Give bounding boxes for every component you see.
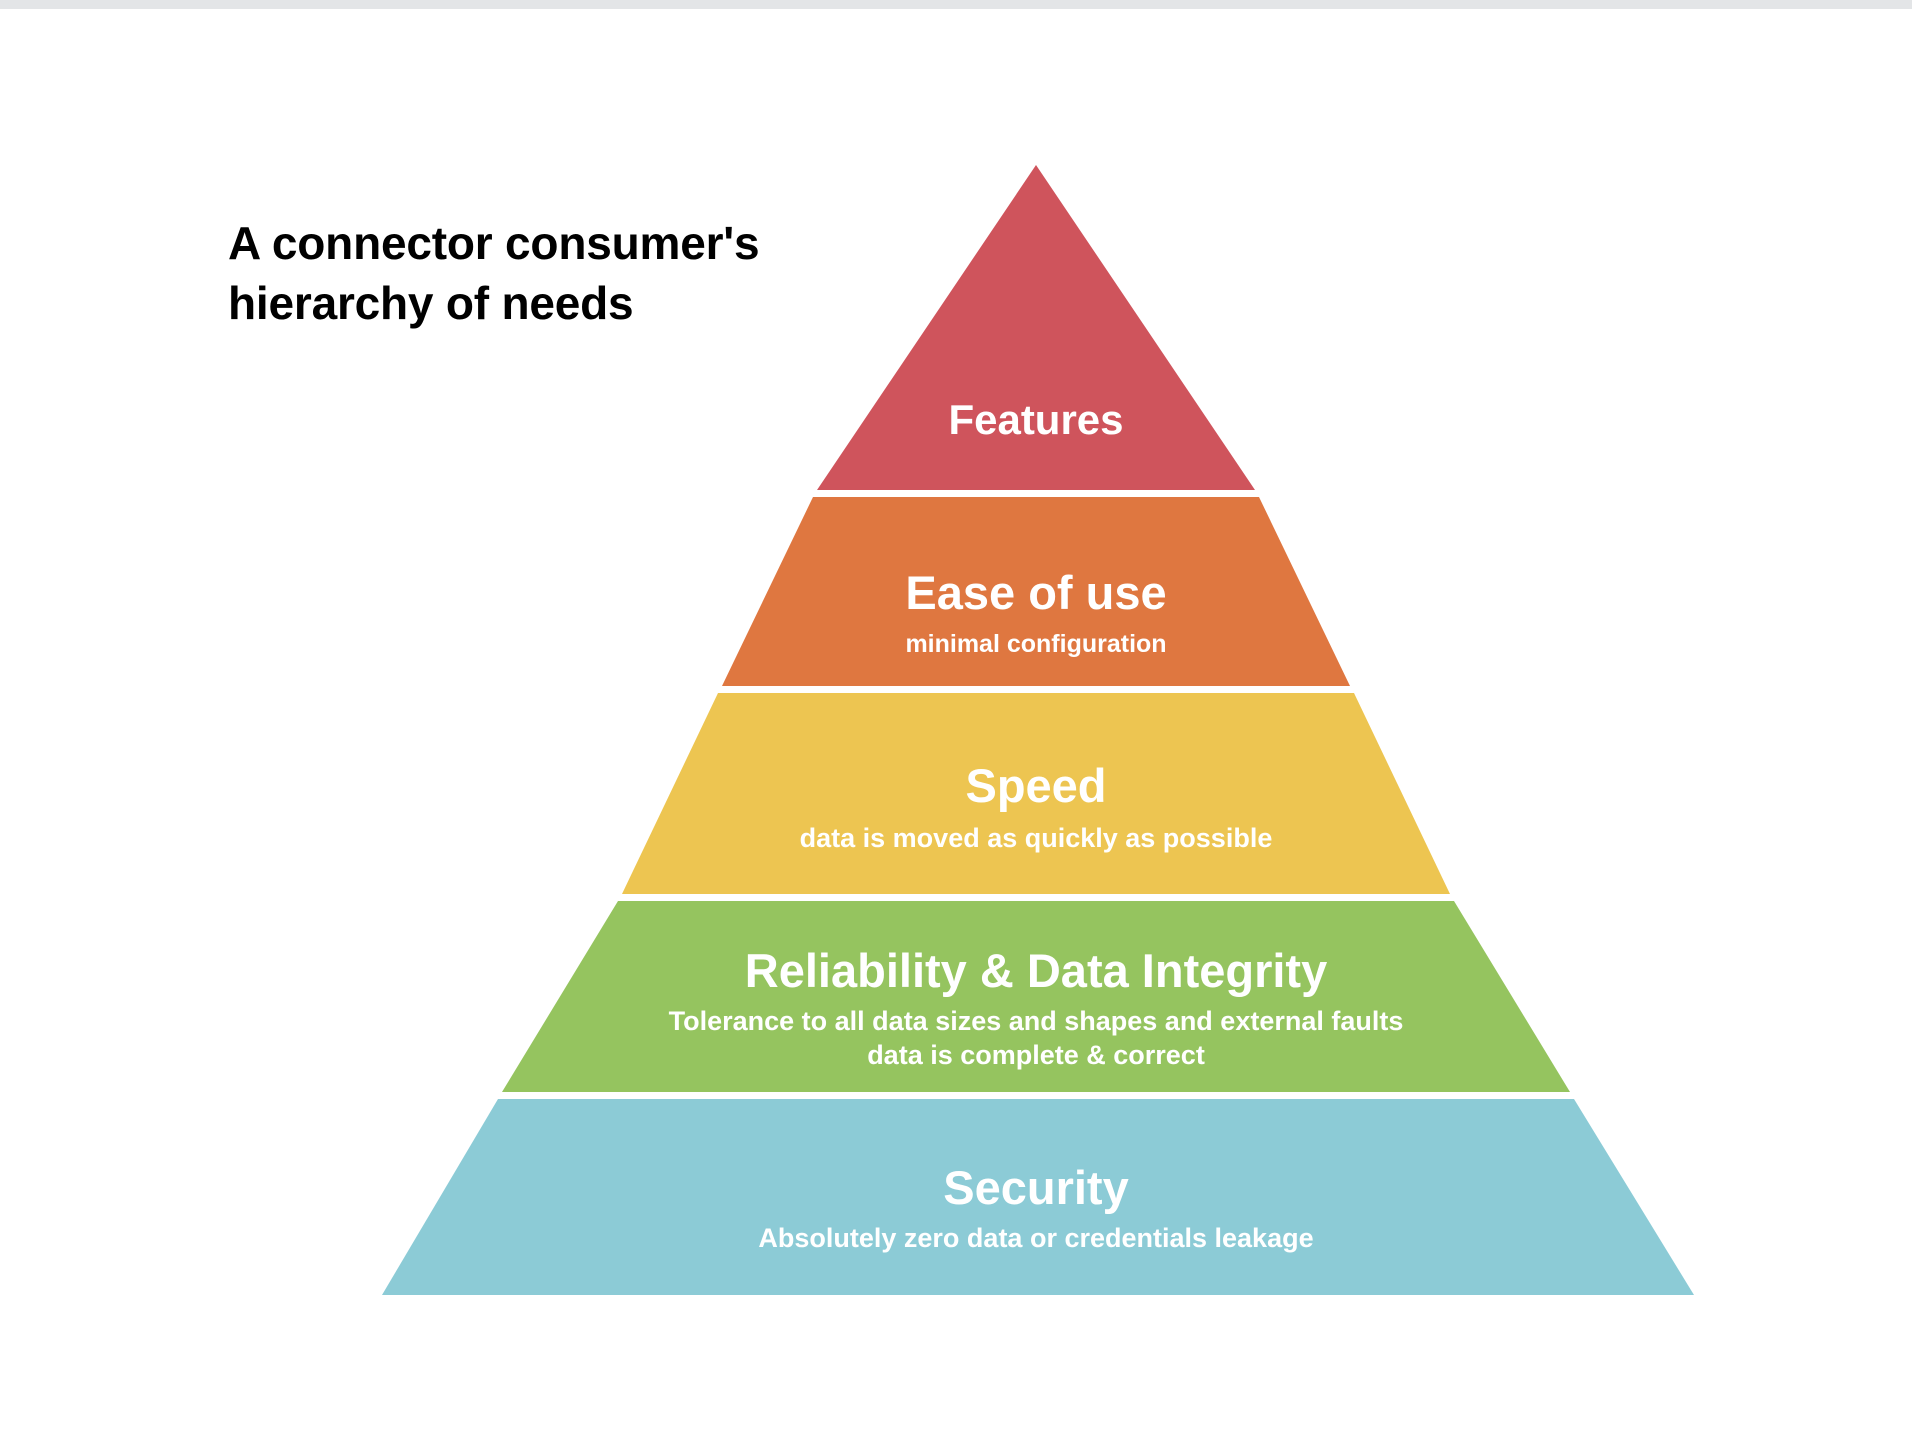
tier-subtitle-security-1: Absolutely zero data or credentials leak… xyxy=(758,1223,1313,1253)
tier-label-speed: Speed xyxy=(965,759,1106,812)
pyramid-diagram: Features Ease of use minimal configurati… xyxy=(0,9,1912,1432)
pyramid-tier-security[interactable]: Security Absolutely zero data or credent… xyxy=(382,1099,1694,1295)
tier-subtitle-speed-1: data is moved as quickly as possible xyxy=(800,823,1273,853)
tier-label-security: Security xyxy=(943,1161,1128,1214)
tier-subtitle-ease-of-use-1: minimal configuration xyxy=(905,630,1166,658)
tier-label-ease-of-use: Ease of use xyxy=(905,566,1166,619)
pyramid-tier-speed[interactable]: Speed data is moved as quickly as possib… xyxy=(622,693,1450,894)
tier-label-features: Features xyxy=(948,396,1123,443)
top-chrome-strip xyxy=(0,0,1912,9)
slide-canvas: A connector consumer's hierarchy of need… xyxy=(0,9,1912,1432)
pyramid-tier-ease-of-use[interactable]: Ease of use minimal configuration xyxy=(722,497,1350,686)
tier-label-reliability: Reliability & Data Integrity xyxy=(745,944,1327,997)
tier-subtitle-reliability-2: data is complete & correct xyxy=(867,1040,1205,1070)
pyramid-tier-features[interactable]: Features xyxy=(817,165,1255,490)
tier-subtitle-reliability-1: Tolerance to all data sizes and shapes a… xyxy=(669,1006,1404,1036)
pyramid-tier-reliability[interactable]: Reliability & Data Integrity Tolerance t… xyxy=(502,901,1570,1092)
